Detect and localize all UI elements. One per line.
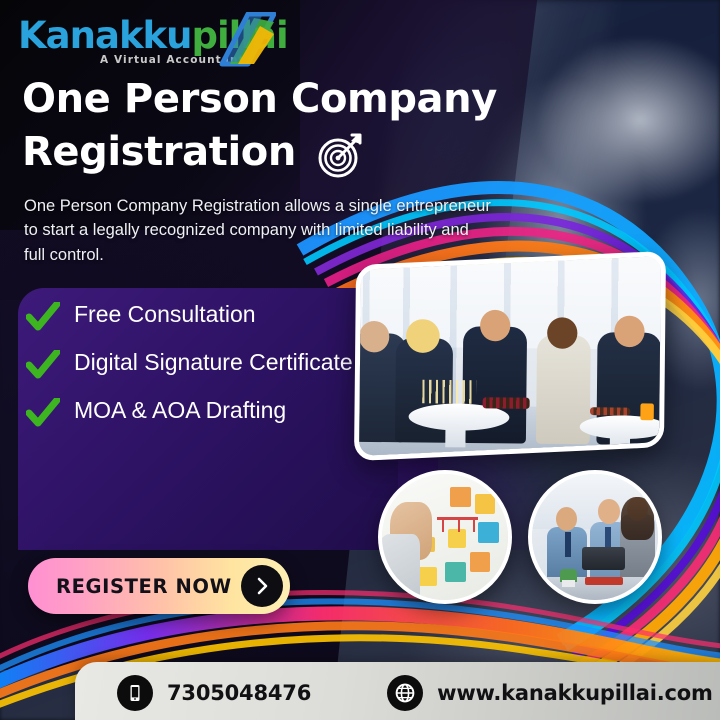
cta-label: REGISTER NOW [56, 575, 232, 598]
check-icon [26, 302, 60, 332]
description-text: One Person Company Registration allows a… [24, 194, 494, 267]
promotional-poster: Kanakkupillai A Virtual Accountant One P… [0, 0, 720, 720]
chevron-swoosh-icon [218, 12, 276, 68]
features-list: Free Consultation Digital Signature Cert… [26, 300, 356, 428]
footer-phone[interactable]: 7305048476 [117, 675, 311, 711]
logo-text-kanakku: Kanakku [18, 14, 192, 57]
list-item: Free Consultation [26, 300, 356, 332]
globe-icon [387, 675, 423, 711]
page-title: One Person Company Registration [22, 76, 522, 181]
feature-label: Digital Signature Certificate [74, 348, 353, 376]
target-dartboard-icon [314, 127, 368, 181]
chevron-right-icon [241, 565, 283, 607]
mobile-phone-icon [117, 675, 153, 711]
website-url: www.kanakkupillai.com [437, 681, 713, 705]
circle-photo-sticky-notes [378, 470, 512, 604]
check-icon [26, 398, 60, 428]
phone-number: 7305048476 [167, 681, 311, 705]
brand-logo[interactable]: Kanakkupillai A Virtual Accountant [18, 12, 268, 68]
feature-label: Free Consultation [74, 300, 256, 328]
feature-label: MOA & AOA Drafting [74, 396, 286, 424]
circle-photo-team-meeting [528, 470, 662, 604]
footer-contact-bar: 7305048476 www.kanakkupillai.com [75, 662, 720, 720]
list-item: MOA & AOA Drafting [26, 396, 356, 428]
check-icon [26, 350, 60, 380]
register-now-button[interactable]: REGISTER NOW [28, 558, 290, 614]
list-item: Digital Signature Certificate [26, 348, 356, 380]
main-photo-content [354, 251, 666, 461]
footer-website[interactable]: www.kanakkupillai.com [387, 675, 713, 711]
headline-line-1: One Person Company [22, 76, 522, 123]
headline-line-2: Registration [22, 129, 296, 176]
main-photo-card [354, 251, 666, 461]
